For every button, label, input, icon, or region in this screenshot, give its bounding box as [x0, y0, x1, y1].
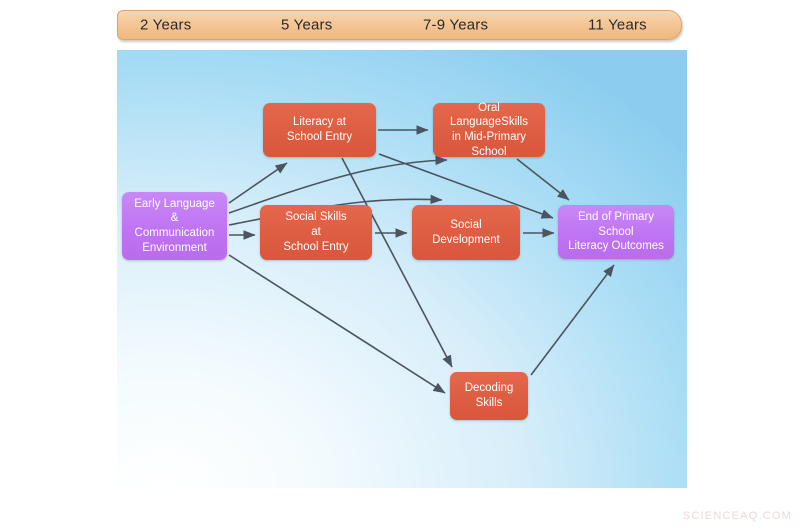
node-label-end-primary-literacy: End of Primary SchoolLiteracy Outcomes — [564, 210, 668, 254]
node-literacy-school-entry[interactable]: Literacy atSchool Entry — [263, 103, 376, 157]
node-social-skills-school-entry[interactable]: Social SkillsatSchool Entry — [260, 205, 372, 260]
timeline-labels: 2 Years5 Years7-9 Years11 Years — [118, 11, 681, 39]
node-label-early-language: Early Language&CommunicationEnvironment — [134, 197, 215, 256]
edge-oral-language-skills-to-end-primary-literacy — [517, 159, 569, 200]
node-label-line: Literacy at — [287, 115, 352, 130]
node-label-line: in Mid-Primary School — [439, 130, 539, 159]
node-label-social-development: SocialDevelopment — [432, 218, 500, 247]
timeline-label-3: 11 Years — [588, 17, 647, 34]
edge-literacy-school-entry-to-decoding-skills — [342, 158, 452, 367]
node-label-line: School Entry — [283, 240, 348, 255]
edge-early-language-to-literacy-school-entry — [229, 163, 287, 203]
watermark: SCIENCEAQ.COM — [683, 510, 792, 522]
edge-layer — [117, 50, 687, 488]
node-label-line: at — [283, 225, 348, 240]
diagram-stage: 2 Years5 Years7-9 Years11 Years Early La… — [0, 0, 800, 530]
diagram-canvas: Early Language&CommunicationEnvironmentL… — [117, 50, 687, 488]
node-label-oral-language-skills: Oral LanguageSkillsin Mid-Primary School — [439, 101, 539, 160]
node-label-social-skills-school-entry: Social SkillsatSchool Entry — [283, 210, 348, 254]
node-decoding-skills[interactable]: DecodingSkills — [450, 372, 528, 420]
node-label-line: Literacy Outcomes — [564, 239, 668, 254]
node-social-development[interactable]: SocialDevelopment — [412, 205, 520, 260]
node-label-line: Communication — [134, 226, 215, 241]
node-label-line: Decoding — [465, 381, 514, 396]
edge-decoding-skills-to-end-primary-literacy — [531, 265, 614, 375]
timeline-label-1: 5 Years — [281, 17, 332, 34]
node-early-language[interactable]: Early Language&CommunicationEnvironment — [122, 192, 227, 260]
node-oral-language-skills[interactable]: Oral LanguageSkillsin Mid-Primary School — [433, 103, 545, 157]
timeline-label-0: 2 Years — [140, 17, 191, 34]
timeline-label-2: 7-9 Years — [423, 17, 488, 34]
node-label-line: Social — [432, 218, 500, 233]
node-label-line: Skills — [465, 396, 514, 411]
node-label-line: Oral LanguageSkills — [439, 101, 539, 130]
node-label-line: End of Primary School — [564, 210, 668, 239]
node-label-line: Development — [432, 233, 500, 248]
edge-early-language-to-decoding-skills — [229, 255, 445, 393]
node-label-line: Early Language — [134, 197, 215, 212]
node-label-line: Environment — [134, 241, 215, 256]
node-label-line: & — [134, 211, 215, 226]
node-label-literacy-school-entry: Literacy atSchool Entry — [287, 115, 352, 144]
node-label-line: School Entry — [287, 130, 352, 145]
developmental-timeline-bar: 2 Years5 Years7-9 Years11 Years — [117, 10, 682, 40]
node-label-line: Social Skills — [283, 210, 348, 225]
node-label-decoding-skills: DecodingSkills — [465, 381, 514, 410]
node-end-primary-literacy[interactable]: End of Primary SchoolLiteracy Outcomes — [558, 205, 674, 259]
